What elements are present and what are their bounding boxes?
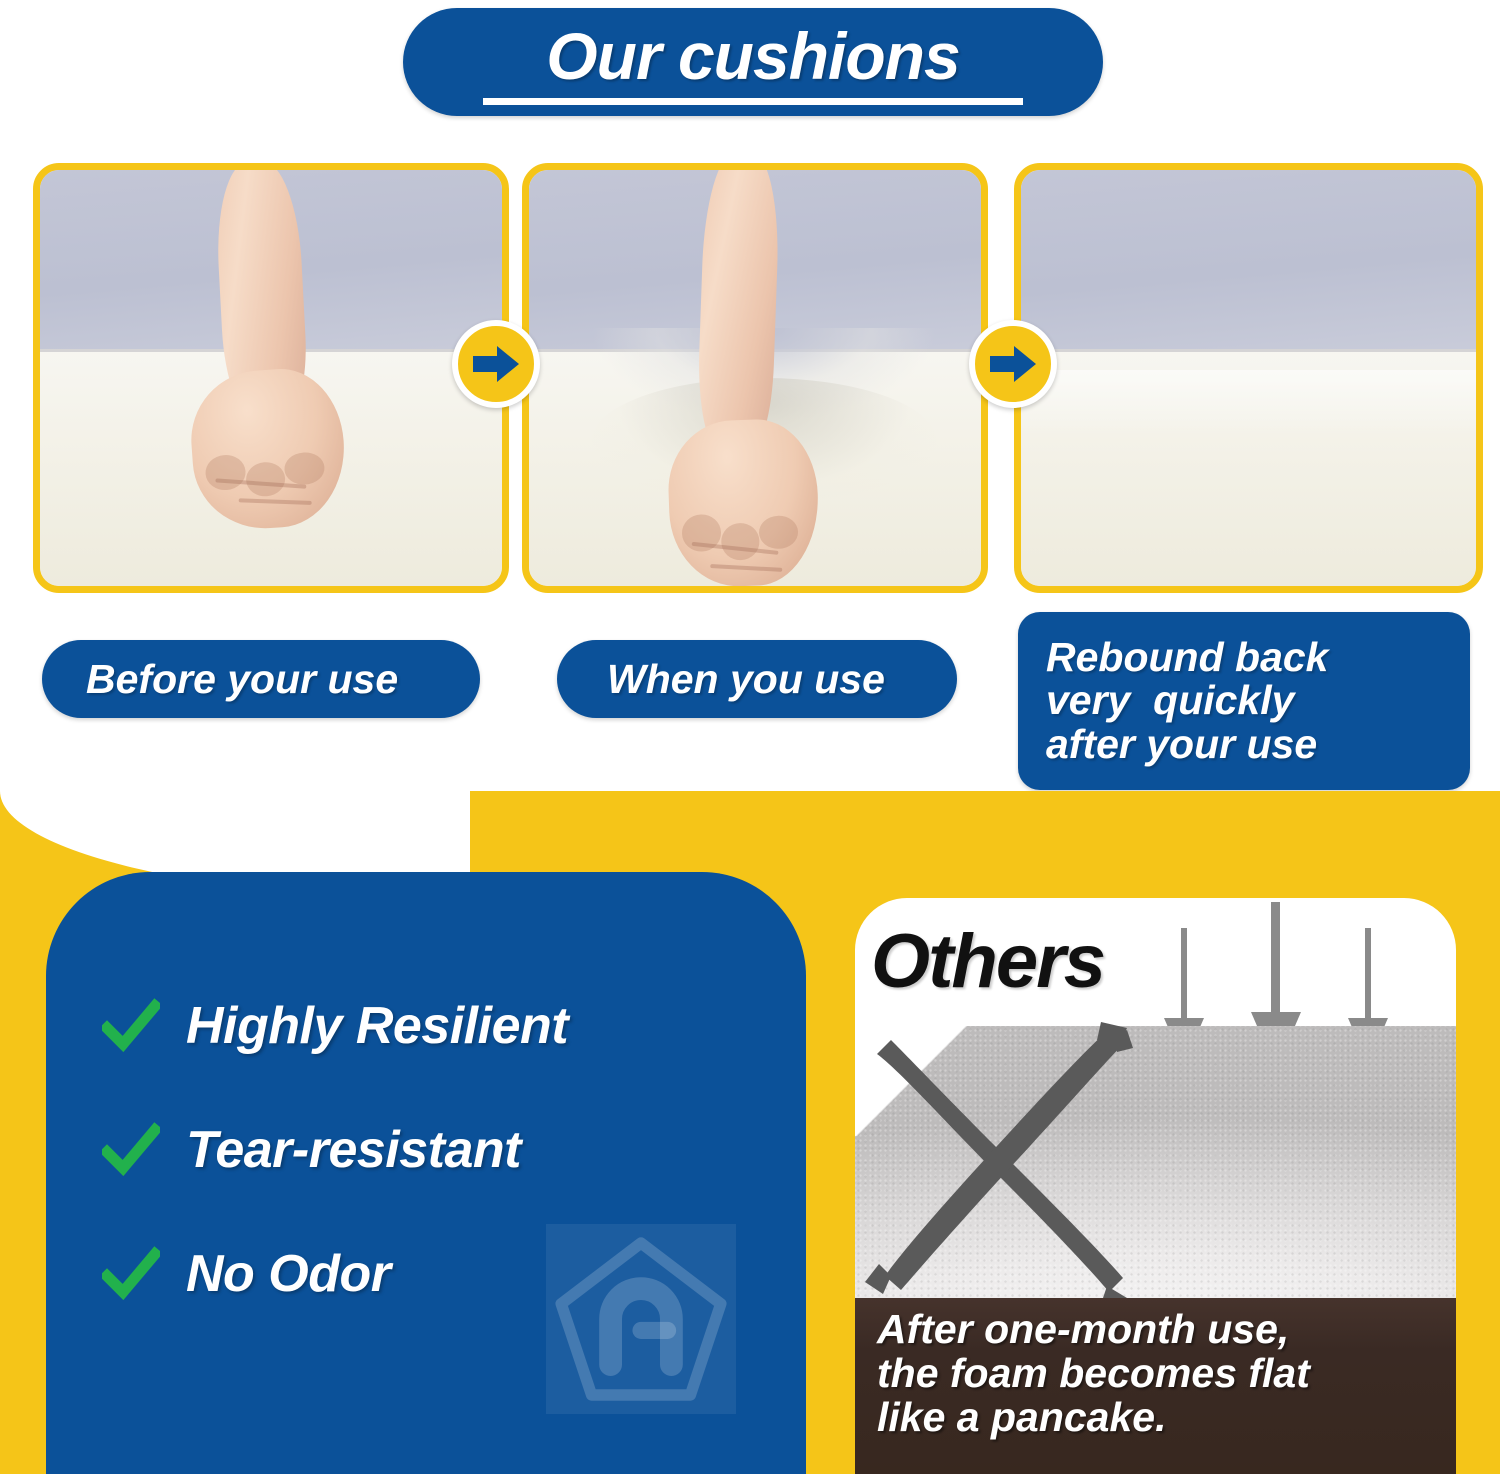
- step-label-text: When you use: [607, 656, 885, 703]
- feature-label: Tear-resistant: [186, 1120, 521, 1180]
- feature-item-tear-resistant: Tear-resistant: [102, 1088, 742, 1212]
- down-arrow-icon: [1365, 928, 1371, 1020]
- step-label-line-1: Rebound back: [1046, 636, 1328, 679]
- down-arrow-icon: [1271, 902, 1280, 1014]
- feature-item-highly-resilient: Highly Resilient: [102, 964, 742, 1088]
- knuckle-shape: [759, 514, 799, 549]
- check-icon: [102, 1121, 160, 1179]
- step-label-when-using: When you use: [557, 640, 957, 718]
- caption-line-2: the foam becomes flat: [877, 1352, 1456, 1396]
- check-icon: [102, 997, 160, 1055]
- photo-scene-when-using: [529, 170, 981, 586]
- right-arrow-icon: [473, 344, 519, 384]
- page-title: Our cushions: [546, 23, 959, 89]
- knuckle-shape: [721, 522, 761, 560]
- step-photo-rebound: [1014, 163, 1483, 593]
- down-arrow-icon: [1181, 928, 1187, 1020]
- title-underline: [483, 98, 1023, 105]
- step-label-line-2: very quickly: [1046, 679, 1294, 722]
- check-icon: [102, 1245, 160, 1303]
- photo-scene-rebound: [1021, 170, 1476, 586]
- forearm-shape: [696, 163, 781, 454]
- photo-scene-before-use: [40, 170, 502, 586]
- our-features-card: Highly Resilient Tear-resistant No Odor: [46, 872, 806, 1474]
- finger-crease: [239, 498, 312, 505]
- step-photo-when-using: [522, 163, 988, 593]
- others-comparison-card: Others: [855, 898, 1456, 1474]
- photo-foam-edge: [1021, 349, 1476, 352]
- step-label-text: Before your use: [86, 656, 398, 703]
- others-title: Others: [871, 918, 1104, 1005]
- reject-mark: [861, 1010, 1171, 1310]
- x-brush-mark-icon: [861, 1010, 1171, 1310]
- step-photo-before-use: [33, 163, 509, 593]
- photo-foam-sheen: [1021, 370, 1476, 437]
- step-arrow-1: [452, 320, 540, 408]
- caption-line-3: like a pancake.: [877, 1396, 1456, 1440]
- knuckle-shape: [284, 451, 326, 485]
- step-label-rebound: Rebound back very quickly after your use: [1018, 612, 1470, 790]
- right-arrow-icon: [990, 344, 1036, 384]
- fist-shape: [666, 417, 821, 588]
- feature-label: Highly Resilient: [186, 996, 568, 1056]
- others-caption: After one-month use, the foam becomes fl…: [855, 1298, 1456, 1474]
- page-title-banner: Our cushions: [403, 8, 1103, 116]
- caption-line-1: After one-month use,: [877, 1308, 1456, 1352]
- step-arrow-2: [969, 320, 1057, 408]
- knuckle-shape: [245, 460, 287, 497]
- finger-crease: [710, 564, 782, 572]
- step-label-before-use: Before your use: [42, 640, 480, 718]
- step-label-line-3: after your use: [1046, 723, 1317, 766]
- photo-background-wall: [1021, 170, 1476, 353]
- feature-label: No Odor: [186, 1244, 390, 1304]
- feature-list: Highly Resilient Tear-resistant No Odor: [102, 964, 742, 1336]
- infographic-root: Our cushions: [0, 0, 1500, 1474]
- knuckle-shape: [205, 454, 247, 491]
- feature-item-no-odor: No Odor: [102, 1212, 742, 1336]
